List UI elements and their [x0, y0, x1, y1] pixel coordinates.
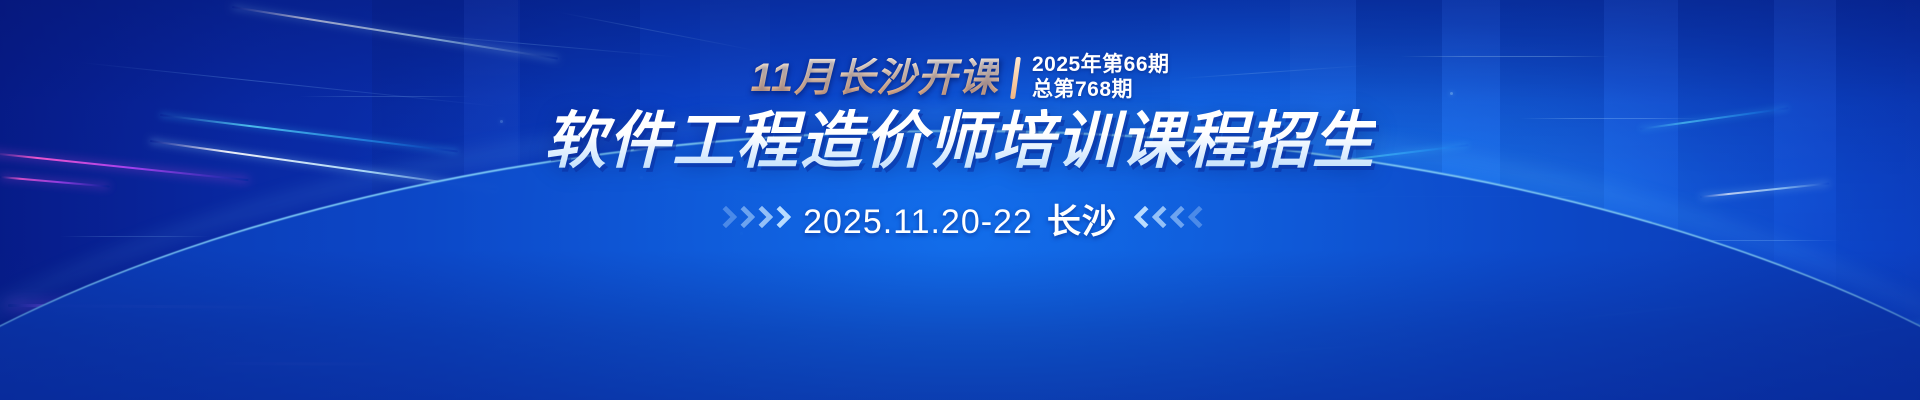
event-city: 长沙 [1047, 203, 1117, 241]
event-date-city: 2025.11.20-22长沙 [803, 194, 1117, 243]
course-promo-banner: 11月长沙开课 2025年第66期 总第768期 软件工程造价师培训课程招生 2… [0, 0, 1920, 400]
kicker-headline: 11月长沙开课 [750, 58, 999, 98]
date-row: 2025.11.20-22长沙 [716, 194, 1204, 243]
vertical-bar-icon [1010, 57, 1021, 99]
event-date: 2025.11.20-22 [803, 203, 1033, 241]
banner-content: 11月长沙开课 2025年第66期 总第768期 软件工程造价师培训课程招生 2… [0, 0, 1920, 400]
issue-numbers: 2025年第66期 总第768期 [1032, 54, 1170, 101]
kicker-row: 11月长沙开课 2025年第66期 总第768期 [750, 54, 1169, 101]
chevron-right-icon [716, 206, 785, 232]
issue-year-label: 2025年第66期 [1032, 54, 1170, 77]
banner-title: 软件工程造价师培训课程招生 [544, 109, 1376, 174]
chevron-left-icon [1135, 206, 1204, 232]
issue-total-label: 总第768期 [1032, 79, 1170, 102]
